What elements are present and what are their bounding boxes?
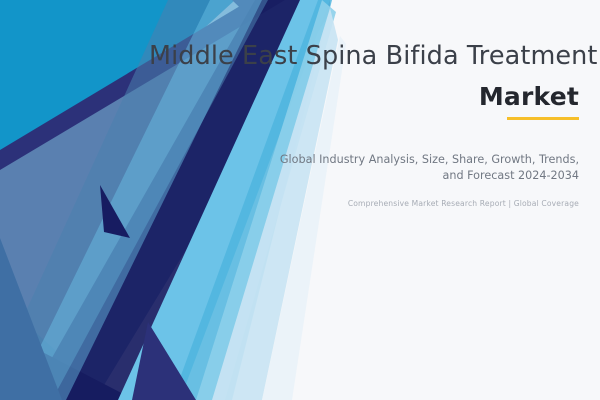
- poster-content: Middle East Spina Bifida Treatment Marke…: [0, 0, 600, 400]
- page-title-emphasis: Market: [149, 82, 579, 112]
- page-title-primary: Middle East Spina Bifida Treatment: [149, 40, 579, 72]
- report-cover-poster: Middle East Spina Bifida Treatment Marke…: [0, 0, 600, 400]
- subtitle-block: Global Industry Analysis, Size, Share, G…: [279, 152, 579, 184]
- report-subtitle: Global Industry Analysis, Size, Share, G…: [279, 152, 579, 184]
- accent-underline-bar: [507, 117, 579, 120]
- report-caption: Comprehensive Market Research Report | G…: [249, 198, 579, 209]
- title-block: Middle East Spina Bifida Treatment Marke…: [149, 40, 579, 120]
